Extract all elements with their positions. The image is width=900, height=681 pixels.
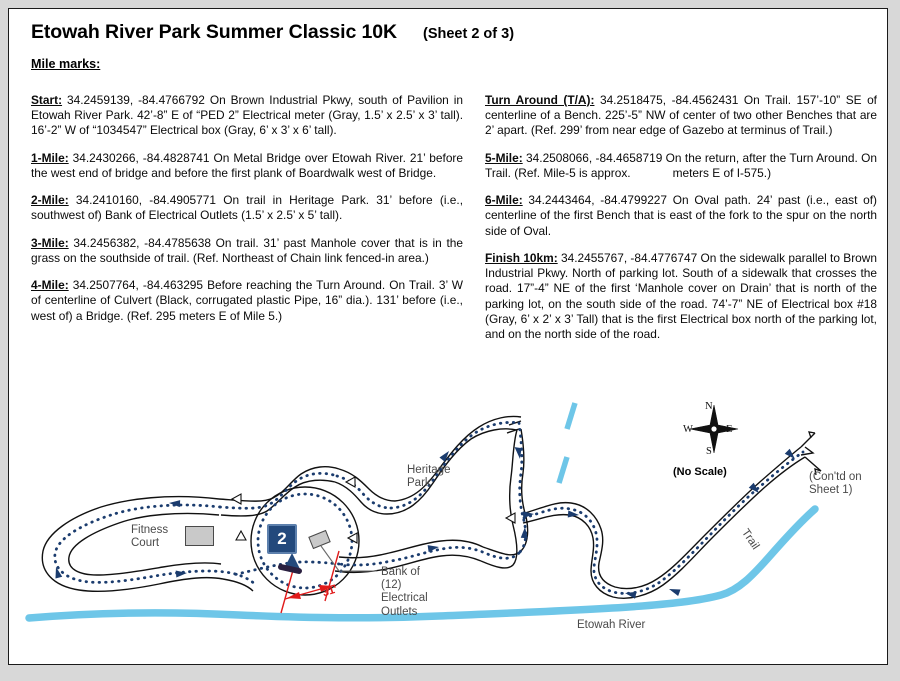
creek-crossings xyxy=(559,403,575,483)
map-label-bank-of-electrical-outlets: Bank of (12) Electrical Outlets xyxy=(381,566,428,619)
mile-mark-entry-2-mile: 2-Mile: 34.2410160, -84.4905771 On trail… xyxy=(31,193,463,223)
map-label-no-scale: (No Scale) xyxy=(673,466,727,479)
entry-body: 34.2443464, -84.4799227 On Oval path. 24… xyxy=(485,193,877,237)
entry-label: Finish 10km: xyxy=(485,251,558,265)
contd-arrow-head-upper xyxy=(809,432,815,438)
mile-mark-entry-6-mile: 6-Mile: 34.2443464, -84.4799227 On Oval … xyxy=(485,193,877,239)
map-label-fitness-court: Fitness Court xyxy=(131,524,168,550)
arrow-far-east-1 xyxy=(749,483,762,496)
entry-label: Start: xyxy=(31,93,62,107)
creek-segment-north xyxy=(567,403,575,429)
mile-mark-entry-1-mile: 1-Mile: 34.2430266, -84.4828741 On Metal… xyxy=(31,151,463,181)
route-oval-to-heritage xyxy=(337,476,391,508)
document-page: Etowah River Park Summer Classic 10K (Sh… xyxy=(8,8,888,665)
mile-mark-entry-finish: Finish 10km: 34.2455767, -84.4776747 On … xyxy=(485,251,877,342)
mile-mark-entry-4-mile: 4-Mile: 34.2507764, -84.463295 Before re… xyxy=(31,278,463,324)
entry-label: 4-Mile: xyxy=(31,278,69,292)
mile-mark-entry-3-mile: 3-Mile: 34.2456382, -84.4785638 On trail… xyxy=(31,236,463,266)
trail-outline-east-loop-inner xyxy=(481,430,517,568)
entry-body: 34.2456382, -84.4785638 On trail. 31’ pa… xyxy=(31,236,463,265)
trail-outline-east-lower xyxy=(523,457,805,598)
page-title: Etowah River Park Summer Classic 10K xyxy=(31,21,397,44)
section-heading-mile-marks: Mile marks: xyxy=(31,57,100,71)
mile-marks-right-column: Turn Around (T/A): 34.2518475, -84.45624… xyxy=(485,93,877,342)
entry-label: Turn Around (T/A): xyxy=(485,93,594,107)
document-header: Etowah River Park Summer Classic 10K (Sh… xyxy=(31,21,871,44)
mile-2-trail-highlight xyxy=(281,567,299,571)
compass-label-west: W xyxy=(683,424,693,435)
entry-label: 6-Mile: xyxy=(485,193,523,207)
compass-label-east: E xyxy=(726,424,732,435)
map-label-continued-on-sheet: (Con'td on Sheet 1) xyxy=(809,471,862,497)
route-east-trail xyxy=(524,452,803,593)
entry-body: 34.2410160, -84.4905771 On trail in Heri… xyxy=(31,193,463,222)
mile-marker-2-badge: 2 xyxy=(267,524,297,554)
mile-marks-left-column: Start: 34.2459139, -84.4766792 On Brown … xyxy=(31,93,463,324)
map-label-etowah-river: Etowah River xyxy=(577,619,645,632)
creek-segment-south xyxy=(559,457,567,483)
course-map-svg xyxy=(9,381,888,665)
fitness-court-structure xyxy=(185,526,214,546)
triangle-marker-1 xyxy=(232,494,241,504)
route-north-segment xyxy=(220,473,337,508)
course-map: Fitness Court Heritage Park Bank of (12)… xyxy=(9,381,888,665)
trail-outline-oval-to-heritage-upper xyxy=(339,469,395,501)
mile-mark-entry-turn-around: Turn Around (T/A): 34.2518475, -84.45624… xyxy=(485,93,877,139)
trail-outline-terminus xyxy=(801,433,821,471)
trail-outline-oval-to-heritage-lower xyxy=(335,482,387,514)
compass-label-north: N xyxy=(705,401,713,412)
triangle-marker-3 xyxy=(346,477,355,487)
arrow-south-east xyxy=(176,570,188,578)
map-label-heritage-park: Heritage Park xyxy=(407,464,450,490)
mile-mark-entry-start: Start: 34.2459139, -84.4766792 On Brown … xyxy=(31,93,463,139)
entry-label: 5-Mile: xyxy=(485,151,523,165)
entry-label: 1-Mile: xyxy=(31,151,69,165)
entry-body: 34.2507764, -84.463295 Before reaching t… xyxy=(31,278,463,322)
trail-outline-west-outer-tail xyxy=(223,579,253,591)
trail-outline-paths xyxy=(42,416,821,598)
compass-center xyxy=(711,426,717,432)
entry-body: 34.2459139, -84.4766792 On Brown Industr… xyxy=(31,93,463,137)
triangle-marker-2 xyxy=(236,531,246,540)
compass-label-south: S xyxy=(706,446,712,457)
entry-body-continued: meters E of I-575.) xyxy=(673,166,771,180)
route-dotted-line xyxy=(55,422,803,593)
mile-mark-entry-5-mile: 5-Mile: 34.2508066, -84.4658719 On the r… xyxy=(485,151,877,181)
sheet-label: (Sheet 2 of 3) xyxy=(423,26,514,42)
entry-body: 34.2430266, -84.4828741 On Metal Bridge … xyxy=(31,151,463,180)
entry-label: 3-Mile: xyxy=(31,236,69,250)
arrow-undulation-2 xyxy=(668,586,681,596)
entry-label: 2-Mile: xyxy=(31,193,69,207)
